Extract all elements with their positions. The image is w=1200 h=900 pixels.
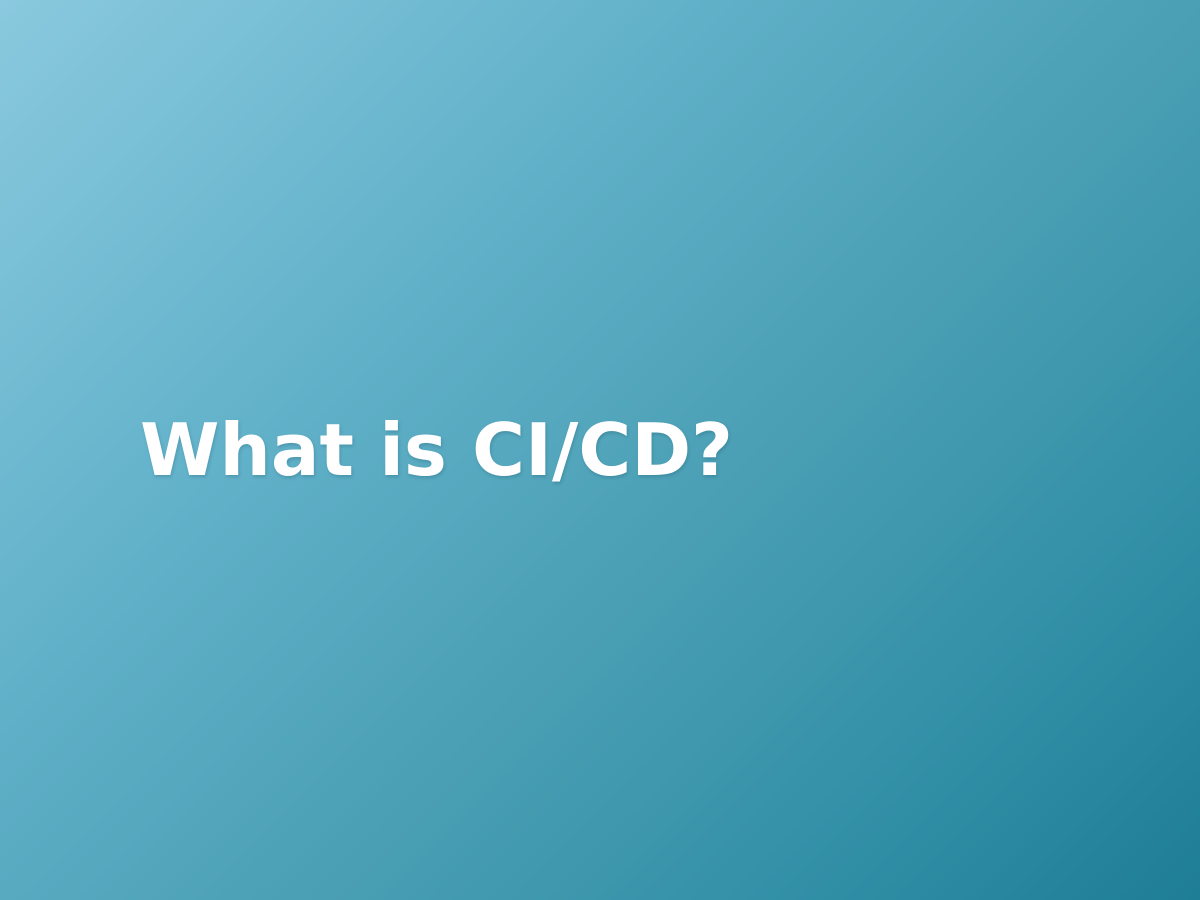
title-block: What is CI/CD? — [140, 414, 1080, 486]
slide-title: What is CI/CD? — [140, 414, 1080, 486]
presentation-slide: What is CI/CD? — [0, 0, 1200, 900]
slide-content-area: What is CI/CD? — [0, 0, 1200, 900]
